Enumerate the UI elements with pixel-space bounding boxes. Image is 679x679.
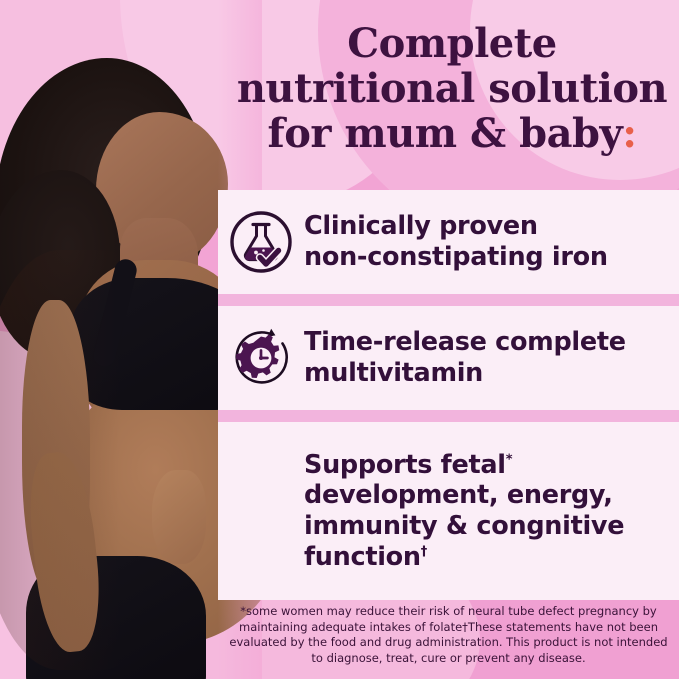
benefit-line-4: function† xyxy=(304,542,669,573)
flask-check-icon xyxy=(229,210,293,274)
feature-text-iron: Clinically proven non-constipating iron xyxy=(304,211,679,272)
benefit-line-2: development, energy, xyxy=(304,480,669,511)
panel-divider xyxy=(218,294,679,306)
headline: Complete nutritional solution for mum & … xyxy=(236,22,668,156)
feature-icon-cell xyxy=(218,325,304,391)
benefit-line-1: Supports fetal* xyxy=(304,450,669,481)
feature-multivitamin-line-2: multivitamin xyxy=(304,358,665,389)
headline-line-3-text: for mum & baby xyxy=(268,110,623,157)
headline-line-1: Complete xyxy=(236,22,668,67)
feature-panel-iron: Clinically proven non-constipating iron xyxy=(218,190,679,294)
benefit-line-4-text: function xyxy=(304,542,421,572)
feature-text-benefits: Supports fetal* development, energy, imm… xyxy=(218,450,679,572)
feature-multivitamin-line-1: Time-release complete xyxy=(304,327,665,358)
product-infographic-poster: Complete nutritional solution for mum & … xyxy=(0,0,679,679)
benefit-line-1-text: Supports fetal xyxy=(304,450,506,480)
feature-text-multivitamin: Time-release complete multivitamin xyxy=(304,327,679,388)
photo-shading xyxy=(0,250,180,670)
feature-panel-multivitamin: Time-release complete multivitamin xyxy=(218,306,679,410)
gear-clock-rotate-icon xyxy=(228,325,294,391)
legal-disclaimer: *some women may reduce their risk of neu… xyxy=(224,604,673,666)
feature-iron-line-1: Clinically proven xyxy=(304,211,665,242)
panel-divider xyxy=(218,410,679,422)
feature-panel-benefits: Supports fetal* development, energy, imm… xyxy=(218,422,679,600)
benefit-dagger-marker: † xyxy=(421,544,427,559)
benefit-asterisk-marker: * xyxy=(506,452,513,467)
feature-iron-line-2: non-constipating iron xyxy=(304,242,665,273)
benefit-line-3: immunity & congnitive xyxy=(304,511,669,542)
headline-line-3: for mum & baby: xyxy=(236,112,668,157)
headline-accent-colon: : xyxy=(622,110,636,157)
feature-icon-cell xyxy=(218,210,304,274)
headline-line-2: nutritional solution xyxy=(236,67,668,112)
